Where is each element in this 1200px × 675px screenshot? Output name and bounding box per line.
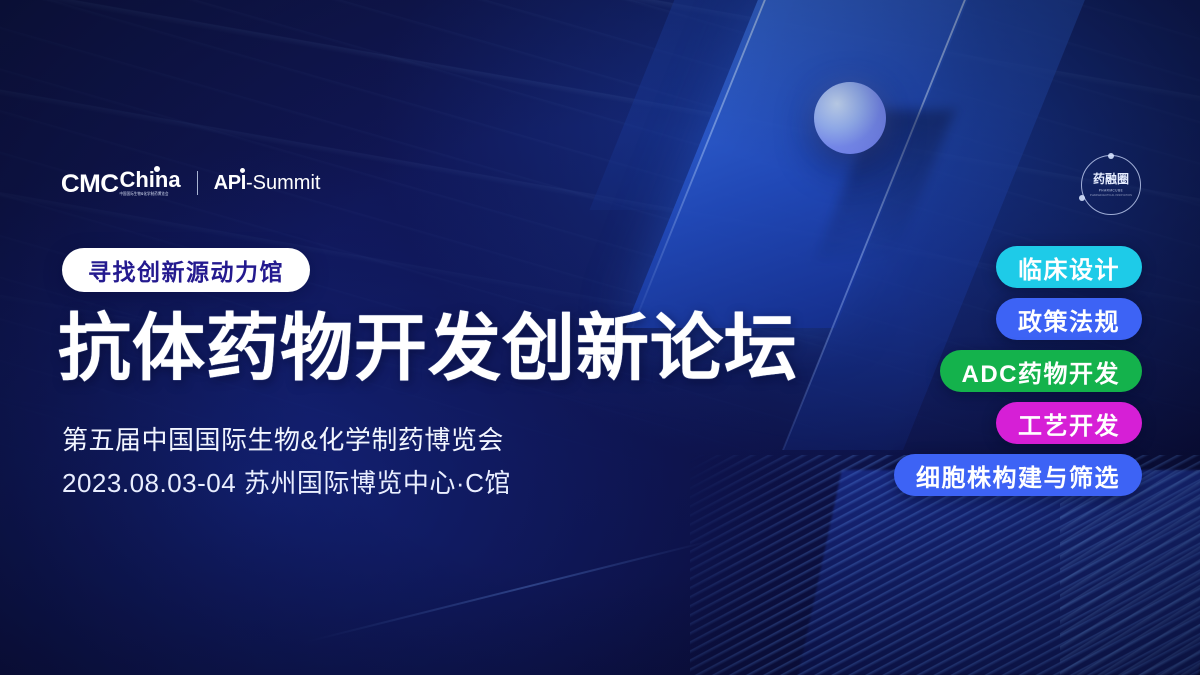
logo-divider (197, 171, 198, 195)
api-bold-text: API (214, 173, 246, 193)
cmc-mark-text: CMC (61, 172, 119, 197)
event-name: 第五届中国国际生物&化学制药博览会 (62, 420, 504, 457)
topic-tag-list: 临床设计政策法规ADC药物开发工艺开发细胞株构建与筛选 (894, 246, 1142, 496)
background-glow-line (306, 539, 714, 643)
emblem-chinese-name: 药融圈 (1093, 173, 1129, 185)
topic-tag[interactable]: 政策法规 (996, 298, 1142, 340)
cmc-subtitle: 中国国际生物&化学制药博览会 (119, 193, 168, 197)
page-title: 抗体药物开发创新论坛 (58, 312, 798, 385)
hall-badge: 寻找创新源动力馆 (62, 248, 310, 292)
emblem-english-name: PHARMCUBE (1099, 187, 1124, 192)
topic-tag[interactable]: 临床设计 (996, 246, 1142, 288)
pharmcube-emblem-icon: 药融圈 PHARMCUBE PHARMACEUTICAL INNOVATION (1081, 155, 1141, 215)
api-i-dot-icon (240, 168, 245, 173)
cmc-china-label: China (119, 167, 180, 192)
background-parallelogram-back (589, 0, 810, 210)
api-label: API (214, 172, 246, 194)
topic-tag[interactable]: 工艺开发 (996, 402, 1142, 444)
emblem-english-tagline: PHARMACEUTICAL INNOVATION (1090, 194, 1132, 198)
cmc-china-text-group: China 中国国际生物&化学制药博览会 (119, 169, 180, 196)
gradient-sphere (814, 82, 886, 154)
topic-tag[interactable]: ADC药物开发 (940, 350, 1143, 392)
background-diagonal-hatch-right (1060, 470, 1200, 675)
cmc-china-word: China (119, 169, 180, 191)
logo-lockup: CMC China 中国国际生物&化学制药博览会 API -Summit (62, 166, 320, 200)
cmc-china-logo: CMC China 中国国际生物&化学制药博览会 (62, 169, 181, 196)
event-date-venue: 2023.08.03-04 苏州国际博览中心·C馆 (62, 463, 511, 500)
api-summit-logo: API -Summit (214, 173, 321, 193)
background-parallelogram-main-edge (631, 0, 770, 328)
api-summit-suffix: -Summit (246, 173, 320, 193)
topic-tag[interactable]: 细胞株构建与筛选 (894, 454, 1142, 496)
conference-banner: CMC China 中国国际生物&化学制药博览会 API -Summit 药融圈… (0, 0, 1200, 675)
